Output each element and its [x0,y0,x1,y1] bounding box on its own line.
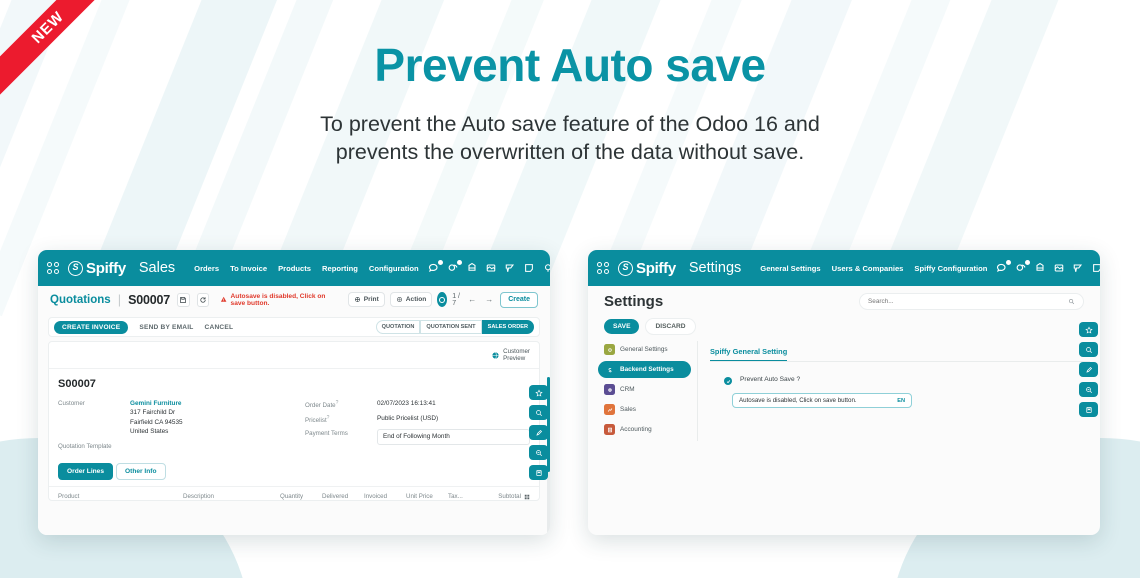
field-customer-address: 317 Fairchild DrFairfield CA 94535United… [130,408,183,437]
settings-navbar: S Spiffy Settings General Settings Users… [588,250,1100,286]
print-button[interactable]: Print [348,292,385,307]
pager-prev-icon[interactable]: ← [466,295,478,304]
chat-badge [1006,260,1011,265]
create-button[interactable]: Create [500,292,538,308]
accounting-icon [604,424,615,435]
discard-icon[interactable] [197,293,210,307]
field-payment-terms: Payment Terms End of Following Month [305,429,530,445]
settings-header: Settings [588,286,1100,316]
save-button[interactable]: SAVE [604,319,639,334]
print-icon[interactable] [466,262,478,274]
backend-settings-icon [604,364,615,375]
megaphone-icon[interactable] [1072,262,1084,274]
sales-control-panel: Quotations | S00007 Autosave is disabled… [38,286,550,313]
stage-quotation[interactable]: QUOTATION [376,320,421,334]
zoom-icon[interactable] [529,445,548,460]
stage-quotation-sent[interactable]: QUOTATION SENT [420,320,481,334]
print-button-label: Print [364,296,379,303]
zoom-icon[interactable] [1079,382,1098,397]
column-subtotal: Subtotal [478,493,530,500]
form-column-left: Customer Gemini Furniture 317 Fairchild … [58,399,283,455]
activity-bubble-icon[interactable] [1015,262,1027,274]
activity-badge [1025,260,1030,265]
autosave-warning: Autosave is disabled, Click on save butt… [220,293,341,307]
brand-name: Spiffy [636,260,676,277]
pencil-icon[interactable] [1079,362,1098,377]
field-quotation-template: Quotation Template [58,442,283,450]
menu-item-users-companies[interactable]: Users & Companies [832,264,904,273]
apps-grid-icon[interactable] [47,262,59,274]
menu-item-configuration[interactable]: Configuration [369,264,419,273]
pager-next-icon[interactable]: → [483,295,495,304]
column-product: Product [58,493,183,500]
pin-icon[interactable] [542,262,550,274]
search-icon[interactable] [529,405,548,420]
field-customer: Customer Gemini Furniture 317 Fairchild … [58,399,283,437]
column-quantity: Quantity [280,493,322,500]
discard-button[interactable]: DISCARD [645,318,695,335]
record-indicator-button[interactable] [437,292,447,307]
sidebar-item-backend-settings[interactable]: Backend Settings [598,361,691,378]
subtitle-line-1: To prevent the Auto save feature of the … [0,110,1140,138]
note-icon[interactable] [1091,262,1100,274]
sales-menu: Orders To Invoice Products Reporting Con… [194,264,418,273]
sidebar-item-crm[interactable]: CRM [598,381,691,398]
field-quotation-template-label: Quotation Template [58,442,130,450]
action-button-label: Action [406,296,427,303]
column-options-icon[interactable] [524,494,530,500]
sales-side-toolbar [529,385,548,480]
order-lines-table-header: Product Description Quantity Delivered I… [58,487,530,500]
autosave-message-input[interactable]: Autosave is disabled, Click on save butt… [732,393,912,408]
activity-bubble-icon[interactable] [447,262,459,274]
stage-bar: QUOTATION QUOTATION SENT SALES ORDER [376,320,534,334]
sales-body: CREATE INVOICE SEND BY EMAIL CANCEL QUOT… [38,313,550,535]
lang-badge[interactable]: EN [897,398,905,404]
prevent-auto-save-label: Prevent Auto Save ? [740,376,800,383]
menu-item-spiffy-configuration[interactable]: Spiffy Configuration [914,264,987,273]
chat-bubble-icon[interactable] [996,262,1008,274]
action-button[interactable]: Action [390,292,433,307]
form-column-right: Order Date? 02/07/2023 16:13:41 Pricelis… [305,399,530,455]
bookmark-icon[interactable] [529,465,548,480]
settings-main: Spiffy General Setting Prevent Auto Save… [698,341,1090,441]
search-box[interactable] [859,293,1084,310]
breadcrumb-root[interactable]: Quotations [50,294,111,306]
sidebar-item-accounting[interactable]: Accounting [598,421,691,438]
field-order-date: Order Date? 02/07/2023 16:13:41 [305,399,530,409]
field-payment-terms-label: Payment Terms [305,429,377,445]
sidebar-label: Backend Settings [620,366,674,373]
note-icon[interactable] [523,262,535,274]
prevent-auto-save-checkbox[interactable] [724,377,732,385]
settings-menu: General Settings Users & Companies Spiff… [760,264,987,273]
tab-spiffy-general-setting[interactable]: Spiffy General Setting [710,347,787,361]
grid-icon[interactable] [1053,262,1065,274]
breadcrumb-current: S00007 [128,293,170,307]
settings-body: General Settings Backend Settings CRM [588,341,1100,441]
sidebar-item-general-settings[interactable]: General Settings [598,341,691,358]
menu-item-orders[interactable]: Orders [194,264,219,273]
spiffy-s-icon: S [68,261,83,276]
sidebar-label: General Settings [620,346,668,353]
spiffy-s-icon: S [618,261,633,276]
settings-sidebar: General Settings Backend Settings CRM [598,341,698,441]
cancel-button[interactable]: CANCEL [205,324,234,331]
grid-icon[interactable] [485,262,497,274]
customer-preview-label: CustomerPreview [503,348,530,363]
field-customer-value[interactable]: Gemini Furniture [130,399,183,409]
menu-item-reporting[interactable]: Reporting [322,264,358,273]
page-title: Settings [604,293,663,310]
poster-canvas: NEW Prevent Auto save To prevent the Aut… [0,0,1140,578]
autosave-warning-text: Autosave is disabled, Click on save butt… [231,293,341,307]
breadcrumb-divider: | [118,292,121,307]
subtitle-line-2: prevents the overwritten of the data wit… [0,138,1140,166]
stage-sales-order[interactable]: SALES ORDER [482,320,534,334]
general-settings-icon [604,344,615,355]
send-by-email-button[interactable]: SEND BY EMAIL [139,324,193,331]
sales-statusbar: CREATE INVOICE SEND BY EMAIL CANCEL QUOT… [48,317,540,337]
field-order-date-value[interactable]: 02/07/2023 16:13:41 [377,399,436,409]
tab-other-info[interactable]: Other Info [116,463,166,480]
column-invoiced: Invoiced [364,493,406,500]
field-pricelist: Pricelist? Public Pricelist (USD) [305,414,530,424]
menu-item-general-settings[interactable]: General Settings [760,264,820,273]
settings-actions: SAVE DISCARD [588,316,1100,341]
settings-side-toolbar [1079,322,1098,417]
field-pricelist-label: Pricelist? [305,414,377,424]
menu-item-products[interactable]: Products [278,264,311,273]
column-unit-price: Unit Price [406,493,448,500]
sidebar-label: Accounting [620,426,652,433]
apps-grid-icon[interactable] [597,262,609,274]
sidebar-label: Sales [620,406,636,413]
sales-navbar: S Spiffy Sales Orders To Invoice Product… [38,250,550,286]
create-invoice-button[interactable]: CREATE INVOICE [54,321,128,334]
star-icon[interactable] [529,385,548,400]
menu-item-to-invoice[interactable]: To Invoice [230,264,267,273]
sheet-tabs: Order Lines Other Info [58,463,530,480]
sidebar-item-sales[interactable]: Sales [598,401,691,418]
field-order-date-label: Order Date? [305,399,377,409]
megaphone-icon[interactable] [504,262,516,274]
crm-icon [604,384,615,395]
activity-badge [457,260,462,265]
bookmark-icon[interactable] [1079,402,1098,417]
app-name: Settings [689,260,741,276]
chat-badge [438,260,443,265]
search-input[interactable] [868,298,1068,305]
app-name: Sales [139,260,175,276]
pager-counter: 1 / 7 [452,293,461,307]
sales-icon [604,404,615,415]
sales-window: S Spiffy Sales Orders To Invoice Product… [38,250,550,535]
new-ribbon: NEW [0,0,120,120]
sales-form-sheet: CustomerPreview S00007 Customer Gemini F… [48,341,540,501]
tab-order-lines[interactable]: Order Lines [58,463,113,480]
pencil-icon[interactable] [529,425,548,440]
record-title: S00007 [58,378,530,390]
column-description: Description [183,493,280,500]
column-tax: Tax... [448,493,478,500]
settings-window: S Spiffy Settings General Settings Users… [588,250,1100,535]
column-delivered: Delivered [322,493,364,500]
autosave-message-value: Autosave is disabled, Click on save butt… [739,397,897,404]
brand-logo[interactable]: S Spiffy [618,260,676,277]
save-icon[interactable] [177,293,190,307]
brand-name: Spiffy [86,260,126,277]
field-customer-label: Customer [58,399,130,437]
setting-prevent-auto-save: Prevent Auto Save ? [710,376,1090,385]
customer-preview-link[interactable]: CustomerPreview [491,348,530,363]
field-payment-terms-input[interactable]: End of Following Month [377,429,530,445]
print-icon[interactable] [1034,262,1046,274]
search-icon[interactable] [1068,298,1075,305]
new-ribbon-label: NEW [0,0,120,101]
sidebar-label: CRM [620,386,635,393]
page-title: Prevent Auto save [0,38,1140,92]
brand-logo[interactable]: S Spiffy [68,260,126,277]
chat-bubble-icon[interactable] [428,262,440,274]
search-icon[interactable] [1079,342,1098,357]
star-icon[interactable] [1079,322,1098,337]
field-pricelist-value[interactable]: Public Pricelist (USD) [377,414,438,424]
